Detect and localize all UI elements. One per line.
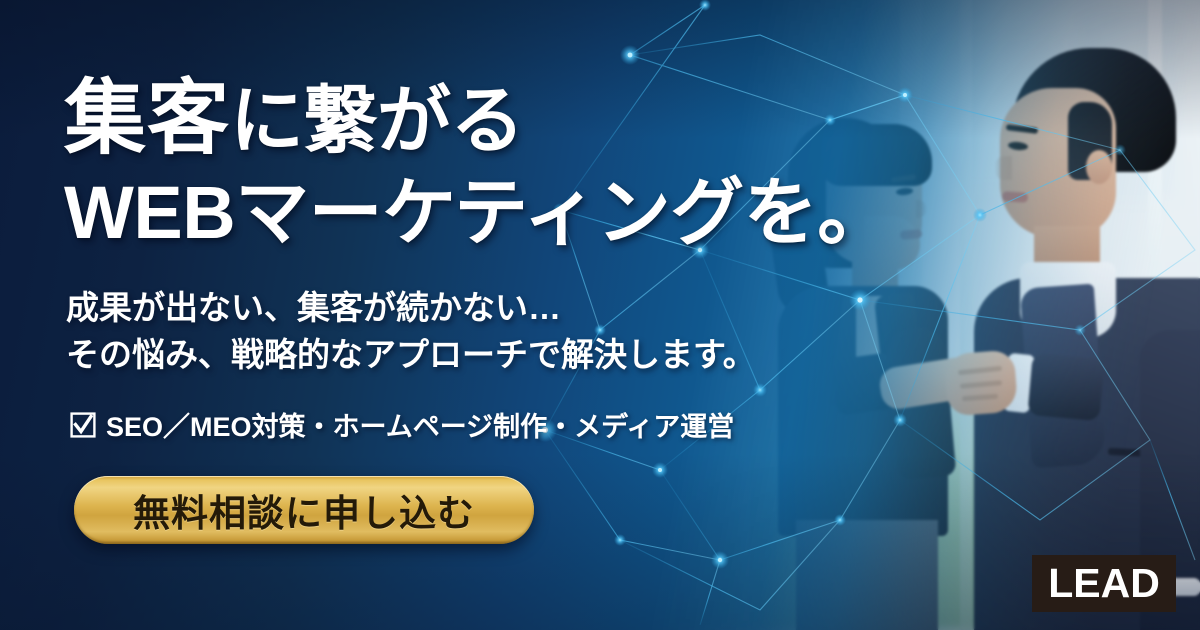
banner-content: 集客に繋がる WEBマーケティングを。 成果が出ない、集客が続かない… その悩み… xyxy=(64,0,844,630)
services-list: SEO／MEO対策・ホームページ制作・メディア運営 xyxy=(70,405,734,444)
subheadline-line-1: 成果が出ない、集客が続かない… xyxy=(66,285,756,332)
marketing-banner: 集客に繋がる WEBマーケティングを。 成果が出ない、集客が続かない… その悩み… xyxy=(0,0,1200,630)
cta-button-label: 無料相談に申し込む xyxy=(133,483,475,537)
headline-line-1-rest: に繋がる xyxy=(230,79,524,162)
lead-logo[interactable]: LEAD xyxy=(1032,555,1176,612)
headline-line-1: 集客に繋がる xyxy=(64,78,891,160)
subheadline-line-2: その悩み、戦略的なアプローチで解決します。 xyxy=(66,332,756,379)
checkbox-checked-icon xyxy=(70,412,96,438)
logo-text: LEAD xyxy=(1048,563,1160,604)
headline-emphasis: 集客 xyxy=(64,73,230,164)
subheadline: 成果が出ない、集客が続かない… その悩み、戦略的なアプローチで解決します。 xyxy=(66,285,756,379)
page-title: 集客に繋がる WEBマーケティングを。 xyxy=(64,78,891,250)
free-consultation-cta-button[interactable]: 無料相談に申し込む xyxy=(74,476,534,544)
headline-line-2: WEBマーケティングを。 xyxy=(64,176,891,250)
services-label: SEO／MEO対策・ホームページ制作・メディア運営 xyxy=(106,405,734,444)
